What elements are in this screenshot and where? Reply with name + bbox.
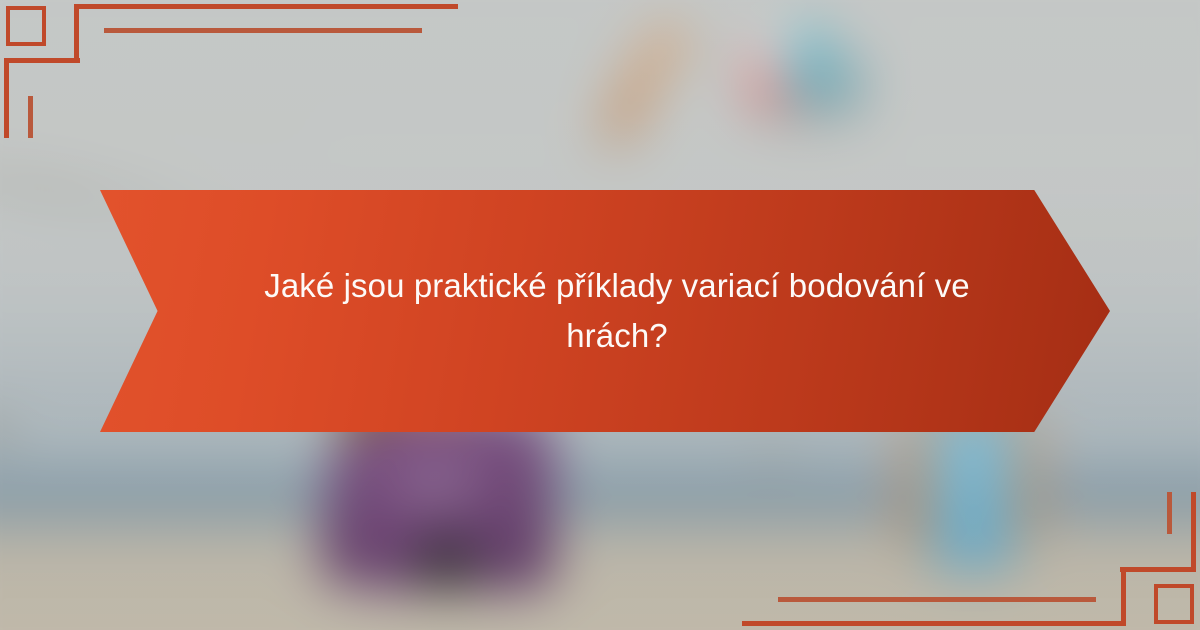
headline-ribbon: Jaké jsou praktické příklady variací bod… <box>100 190 1110 432</box>
headline-text: Jaké jsou praktické příklady variací bod… <box>225 261 985 361</box>
banner-canvas: Jaké jsou praktické příklady variací bod… <box>0 0 1200 630</box>
headline-line-1: Jaké jsou praktické příklady variací bod… <box>264 267 925 304</box>
